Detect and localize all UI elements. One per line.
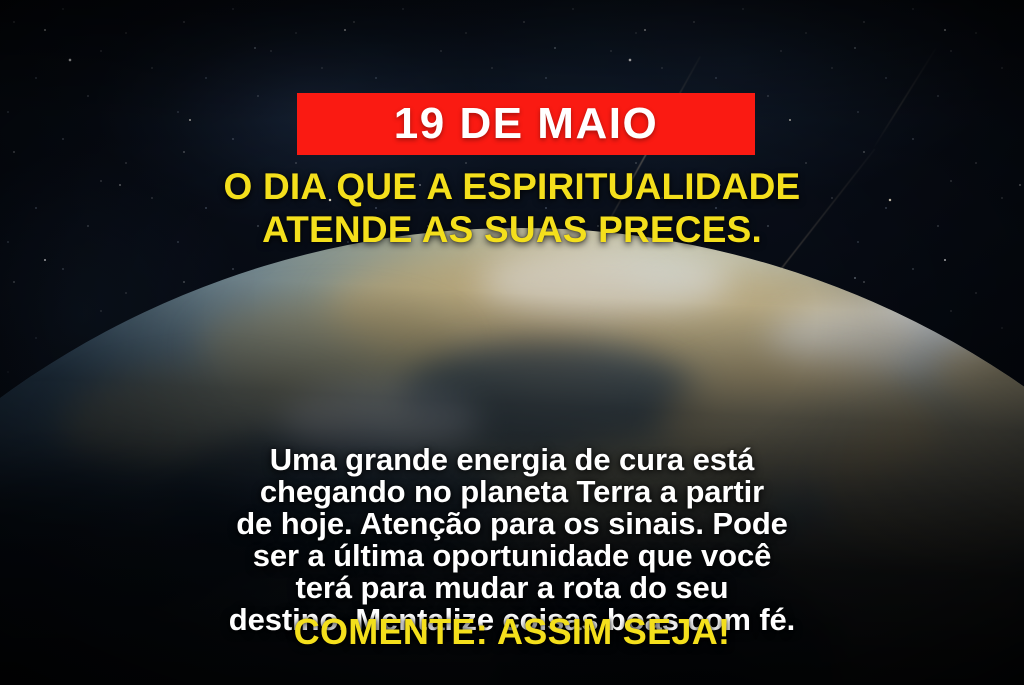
poster-content: 19 DE MAIO O DIA QUE A ESPIRITUALIDADE A… (0, 0, 1024, 685)
call-to-action-text: COMENTE: ASSIM SEJA! (0, 612, 1024, 652)
headline-line-1: O DIA QUE A ESPIRITUALIDADE (36, 166, 988, 209)
body-line-3: de hoje. Atenção para os sinais. Pode (30, 508, 994, 540)
body-line-4: ser a última oportunidade que você (30, 540, 994, 572)
headline-line-2: ATENDE AS SUAS PRECES. (36, 209, 988, 252)
body-line-1: Uma grande energia de cura está (30, 444, 994, 476)
body-copy: Uma grande energia de cura está chegando… (0, 444, 1024, 636)
body-line-5: terá para mudar a rota do seu (30, 572, 994, 604)
headline: O DIA QUE A ESPIRITUALIDADE ATENDE AS SU… (0, 166, 1024, 252)
date-banner-label: 19 DE MAIO (394, 102, 658, 146)
date-banner: 19 DE MAIO (297, 93, 755, 155)
body-line-2: chegando no planeta Terra a partir (30, 476, 994, 508)
poster-canvas: 19 DE MAIO O DIA QUE A ESPIRITUALIDADE A… (0, 0, 1024, 685)
